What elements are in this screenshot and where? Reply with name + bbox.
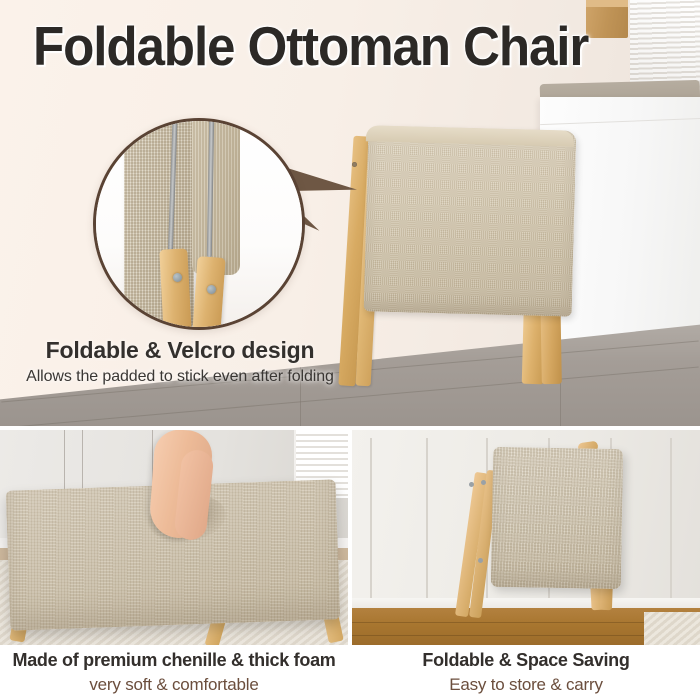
callout-subtitle: Allows the padded to stick even after fo… bbox=[0, 366, 360, 388]
hero-section: Foldable Ottoman Chair Foldable & Velcro… bbox=[0, 0, 700, 428]
wood-shelf-top-face bbox=[586, 0, 628, 7]
folded-ottoman-hero bbox=[340, 128, 590, 390]
callout-heading: Foldable & Velcro design bbox=[0, 336, 360, 364]
screw-icon bbox=[173, 273, 182, 282]
screw-icon bbox=[481, 480, 486, 485]
callout-caption: Foldable & Velcro design Allows the padd… bbox=[0, 336, 360, 388]
closeup-fabric-fold-2 bbox=[192, 118, 240, 275]
caption-heading: Foldable & Space Saving bbox=[352, 648, 700, 672]
folded-cushion bbox=[491, 447, 623, 589]
wall-panel-line bbox=[370, 438, 372, 598]
caption-subtitle: Easy to store & carry bbox=[352, 673, 700, 696]
leg-screw-icon bbox=[352, 162, 357, 167]
caption-subtitle: very soft & comfortable bbox=[0, 673, 348, 696]
page-title: Foldable Ottoman Chair bbox=[33, 16, 588, 76]
chenille-cushion bbox=[364, 125, 577, 316]
panel-chenille-foam bbox=[0, 430, 348, 645]
wall-panel-line bbox=[426, 438, 428, 598]
wall-panel-line bbox=[670, 438, 672, 598]
caption-space-saving: Foldable & Space Saving Easy to store & … bbox=[352, 648, 700, 696]
screw-icon bbox=[469, 482, 474, 487]
screw-icon bbox=[207, 285, 216, 294]
woven-rug bbox=[644, 612, 700, 645]
panel-space-saving bbox=[352, 430, 700, 645]
product-infographic: Foldable Ottoman Chair Foldable & Velcro… bbox=[0, 0, 700, 700]
caption-heading: Made of premium chenille & thick foam bbox=[0, 648, 348, 672]
screw-icon bbox=[478, 558, 483, 563]
caption-chenille-foam: Made of premium chenille & thick foam ve… bbox=[0, 648, 348, 696]
panel-divider bbox=[348, 430, 352, 645]
velcro-hinge-closeup bbox=[93, 118, 305, 330]
features-section: Made of premium chenille & thick foam ve… bbox=[0, 430, 700, 700]
closeup-wooden-leg-1 bbox=[159, 248, 192, 330]
